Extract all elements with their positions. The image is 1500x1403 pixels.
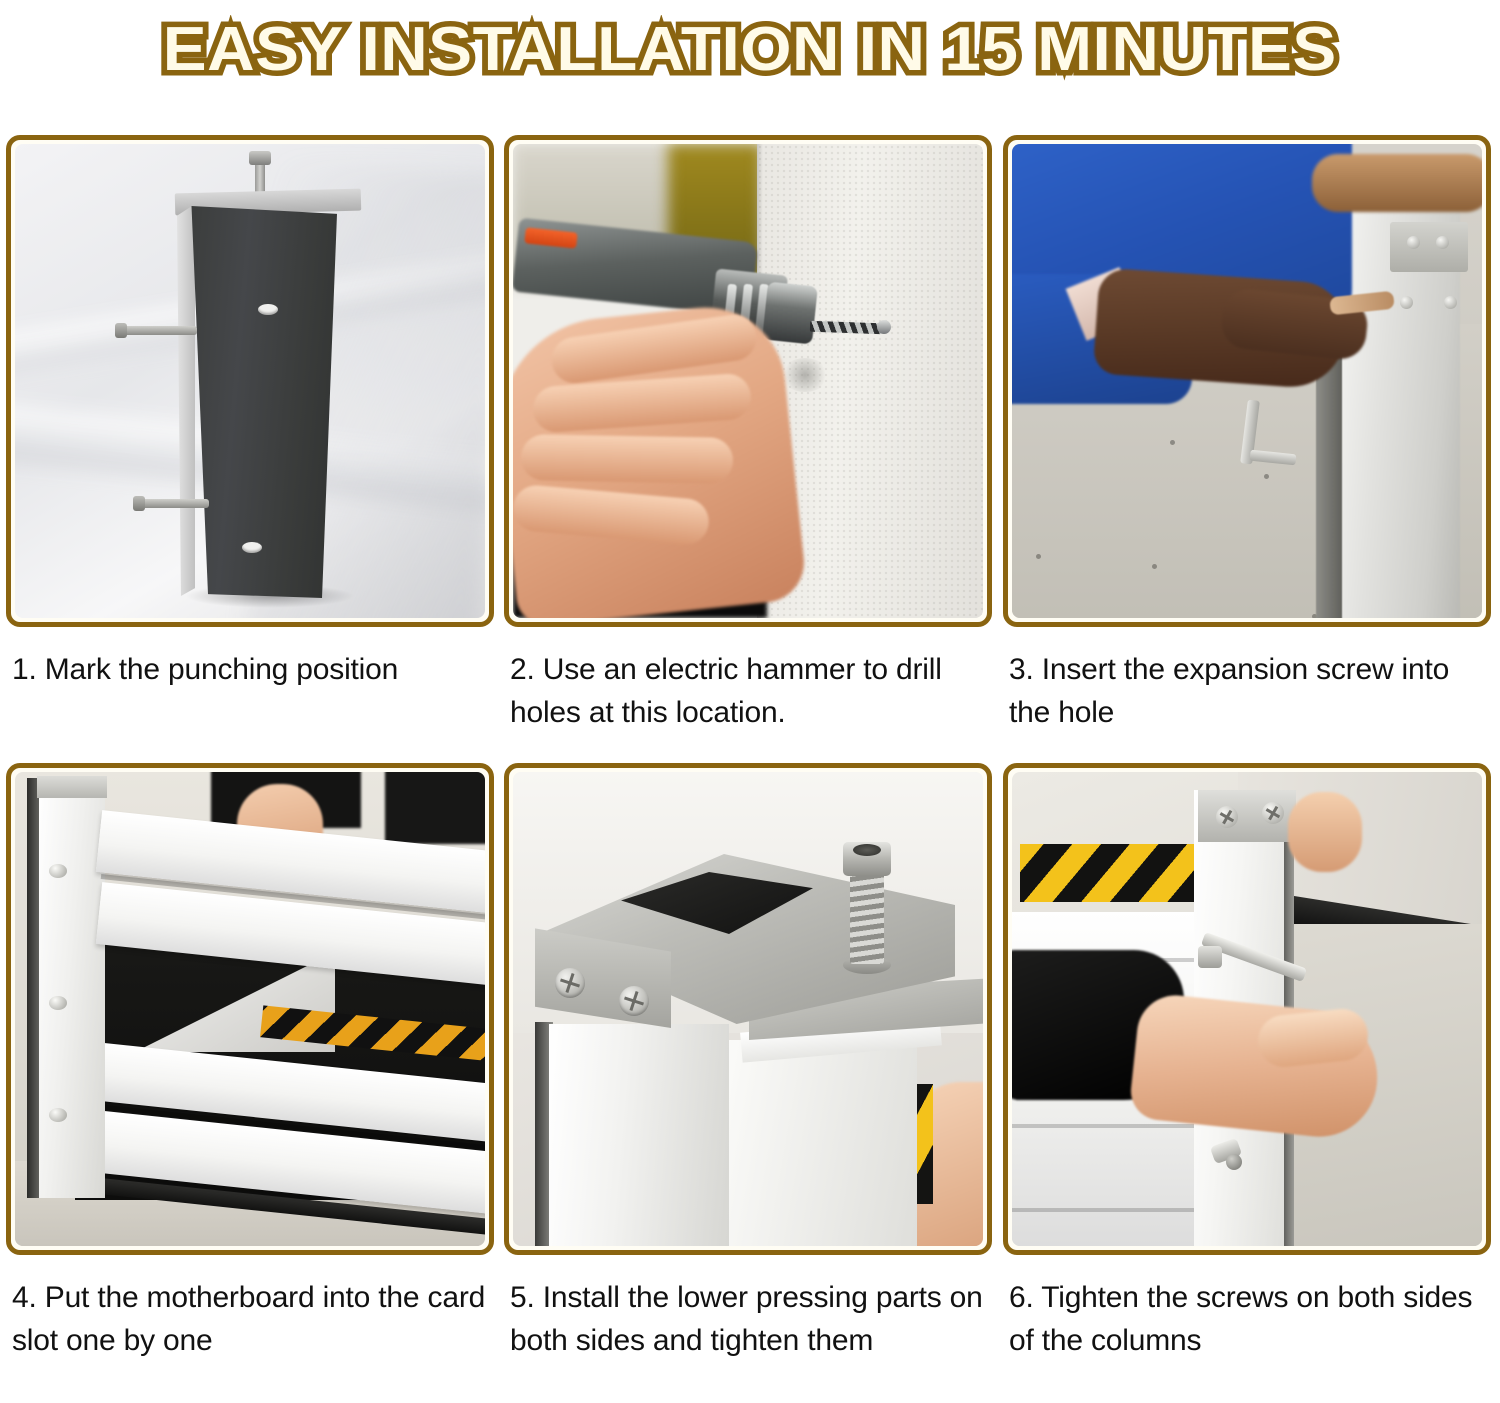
step-3: 3. Insert the expansion screw into the h… xyxy=(1003,135,1493,734)
column-post xyxy=(39,778,105,1198)
plate-hole-lower xyxy=(242,542,262,553)
banner: EASY INSTALLATION IN 15 MINUTES xyxy=(0,0,1500,100)
clamp-bolt-thread xyxy=(850,872,884,964)
step-2: 2. Use an electric hammer to drill holes… xyxy=(504,135,994,734)
drilling-into-wall-photo xyxy=(513,144,983,618)
clamp-screw-left xyxy=(555,968,585,998)
plate-hole-upper xyxy=(258,304,278,315)
step-4-photo-frame xyxy=(6,763,494,1255)
clamp-screw-right xyxy=(619,986,649,1016)
step-6-photo-frame xyxy=(1003,763,1491,1255)
step-1-caption: 1. Mark the punching position xyxy=(6,649,488,692)
step-6-caption: 6. Tighten the screws on both sides of t… xyxy=(1003,1277,1485,1362)
column-screw-right xyxy=(1262,802,1284,824)
steps-grid: 1. Mark the punching position xyxy=(0,100,1500,1403)
white-column xyxy=(549,1024,729,1246)
top-bolt-head xyxy=(249,151,271,165)
step-5-caption: 5. Install the lower pressing parts on b… xyxy=(504,1277,986,1362)
installation-guide-page: EASY INSTALLATION IN 15 MINUTES xyxy=(0,0,1500,1403)
step-6: 6. Tighten the screws on both sides of t… xyxy=(1003,763,1493,1362)
step-5: 5. Install the lower pressing parts on b… xyxy=(504,763,994,1362)
sliding-boards-into-card-slot-photo xyxy=(15,772,485,1246)
mounting-plate-on-white-cloth-photo xyxy=(15,144,485,618)
expansion-pin-lower xyxy=(137,499,209,508)
step-2-photo-frame xyxy=(504,135,992,627)
step-4: 4. Put the motherboard into the card slo… xyxy=(6,763,496,1362)
step-2-caption: 2. Use an electric hammer to drill holes… xyxy=(504,649,986,734)
hazard-stripe xyxy=(1020,844,1196,902)
expansion-pin-upper xyxy=(119,326,197,335)
mounting-plate xyxy=(187,206,337,598)
drill-chuck xyxy=(762,282,818,345)
step-1-photo-frame xyxy=(6,135,494,627)
step-3-photo-frame xyxy=(1003,135,1491,627)
step-4-caption: 4. Put the motherboard into the card slo… xyxy=(6,1277,488,1362)
inserting-expansion-screw-photo xyxy=(1012,144,1482,618)
step-5-photo-frame xyxy=(504,763,992,1255)
step-3-caption: 3. Insert the expansion screw into the h… xyxy=(1003,649,1485,734)
lower-pressing-part-clamp-photo xyxy=(513,772,983,1246)
tightening-column-screws-photo xyxy=(1012,772,1482,1246)
column-screw-left xyxy=(1216,806,1238,828)
page-title: EASY INSTALLATION IN 15 MINUTES xyxy=(163,19,1337,81)
step-1: 1. Mark the punching position xyxy=(6,135,496,692)
